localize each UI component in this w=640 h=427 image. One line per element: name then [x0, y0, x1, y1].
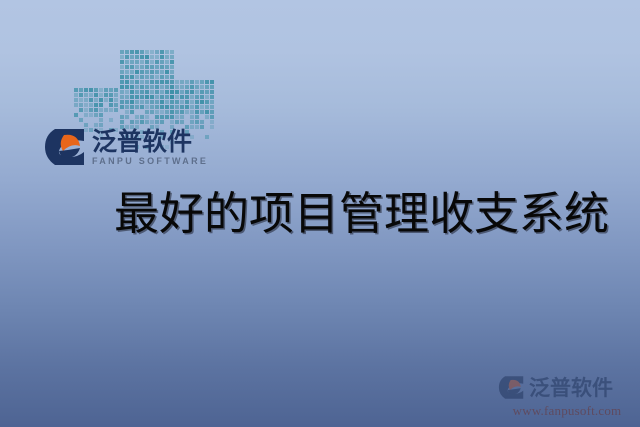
pixel-cityscape-icon — [74, 50, 184, 132]
watermark: 泛普软件 www.fanpusoft.com — [498, 372, 636, 419]
watermark-url: www.fanpusoft.com — [498, 403, 636, 419]
watermark-lockup: 泛普软件 — [498, 372, 636, 402]
watermark-name-cn: 泛普软件 — [529, 372, 613, 402]
fanpu-logo-mark-icon — [44, 127, 88, 167]
watermark-logo-mark-icon — [498, 375, 526, 400]
brand-name-en: FANPU SOFTWARE — [92, 157, 208, 166]
brand-wordmark: 泛普软件 FANPU SOFTWARE — [92, 129, 208, 166]
page-title: 最好的项目管理收支系统 — [114, 188, 609, 240]
brand-name-cn: 泛普软件 — [92, 129, 208, 154]
slide-canvas: 泛普软件 FANPU SOFTWARE 最好的项目管理收支系统 泛普软件 www… — [0, 0, 640, 427]
brand-logo-lockup: 泛普软件 FANPU SOFTWARE — [44, 127, 208, 167]
